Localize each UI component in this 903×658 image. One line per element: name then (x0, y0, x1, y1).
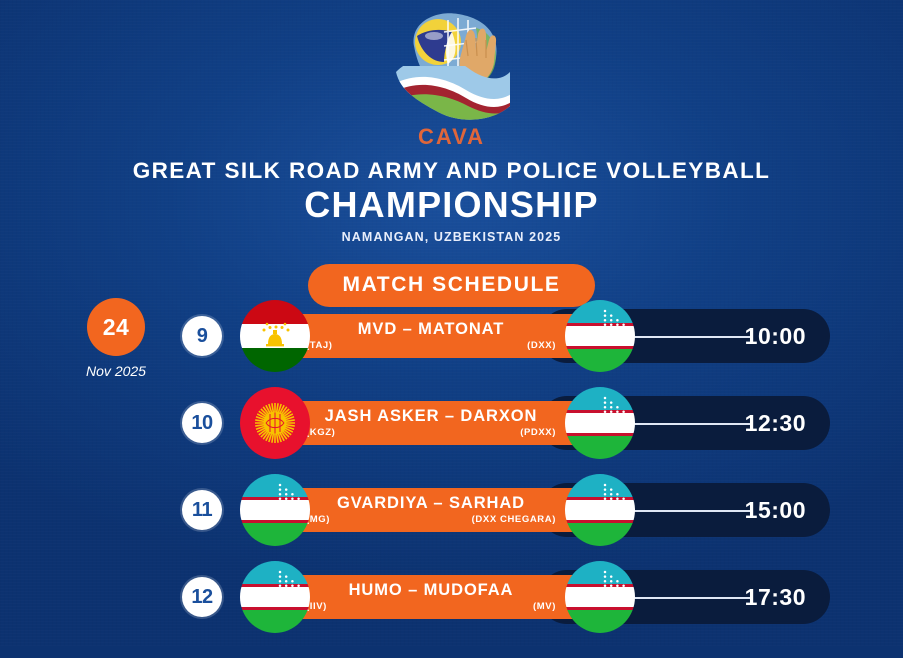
event-location-year: NAMANGAN, UZBEKISTAN 2025 (0, 230, 903, 244)
kyrgyzstan-flag (240, 387, 310, 459)
time-connector-line (622, 510, 750, 512)
match-row[interactable]: 1012:30JASH ASKER – DARXON(KGZ)(PDXX) (0, 387, 903, 459)
time-connector-line (622, 423, 750, 425)
match-teams-label: MVD – MATONAT (358, 321, 504, 338)
match-teams-label: GVARDIYA – SARHAD (337, 495, 525, 512)
match-row[interactable]: 1115:00GVARDIYA – SARHAD(MG)(DXX CHEGARA… (0, 474, 903, 546)
uzbekistan-flag (565, 474, 635, 546)
match-teams-bar: MVD – MATONAT(TAJ)(DXX) (262, 314, 600, 358)
away-team-code: (PDXX) (520, 427, 556, 438)
tajikistan-flag (240, 300, 310, 372)
match-schedule-list: 910:00MVD – MATONAT(TAJ)(DXX)1012:30JASH… (0, 300, 903, 648)
match-number-badge: 10 (182, 403, 222, 443)
match-row[interactable]: 910:00MVD – MATONAT(TAJ)(DXX) (0, 300, 903, 372)
uzbekistan-flag (565, 387, 635, 459)
match-time: 17:30 (745, 584, 806, 611)
event-header: CAVA GREAT SILK ROAD ARMY AND POLICE VOL… (0, 0, 903, 307)
match-teams-label: HUMO – MUDOFAA (349, 582, 514, 599)
uzbekistan-flag (565, 300, 635, 372)
cava-volleyball-logo (388, 6, 516, 126)
match-time: 15:00 (745, 497, 806, 524)
match-time: 12:30 (745, 410, 806, 437)
match-time: 10:00 (745, 323, 806, 350)
match-teams-bar: HUMO – MUDOFAA(IIV)(MV) (262, 575, 600, 619)
match-team-codes: (MG)(DXX CHEGARA) (262, 513, 600, 525)
home-team-code: (TAJ) (306, 340, 333, 351)
match-number-badge: 9 (182, 316, 222, 356)
time-connector-line (622, 597, 750, 599)
uzbekistan-flag (240, 561, 310, 633)
away-team-code: (DXX CHEGARA) (472, 514, 556, 525)
match-number-badge: 11 (182, 490, 222, 530)
away-team-code: (MV) (533, 601, 556, 612)
match-team-codes: (TAJ)(DXX) (262, 339, 600, 351)
cava-logo-text: CAVA (0, 124, 903, 150)
match-teams-bar: GVARDIYA – SARHAD(MG)(DXX CHEGARA) (262, 488, 600, 532)
time-connector-line (622, 336, 750, 338)
event-title-line2: CHAMPIONSHIP (0, 187, 903, 223)
footer-strip (0, 646, 903, 658)
uzbekistan-flag (565, 561, 635, 633)
match-team-codes: (IIV)(MV) (262, 600, 600, 612)
match-teams-bar: JASH ASKER – DARXON(KGZ)(PDXX) (262, 401, 600, 445)
match-number-badge: 12 (182, 577, 222, 617)
match-team-codes: (KGZ)(PDXX) (262, 426, 600, 438)
event-title-line1: GREAT SILK ROAD ARMY AND POLICE VOLLEYBA… (0, 158, 903, 184)
home-team-code: (KGZ) (306, 427, 335, 438)
away-team-code: (DXX) (527, 340, 556, 351)
match-teams-label: JASH ASKER – DARXON (325, 408, 538, 425)
match-row[interactable]: 1217:30HUMO – MUDOFAA(IIV)(MV) (0, 561, 903, 633)
uzbekistan-flag (240, 474, 310, 546)
